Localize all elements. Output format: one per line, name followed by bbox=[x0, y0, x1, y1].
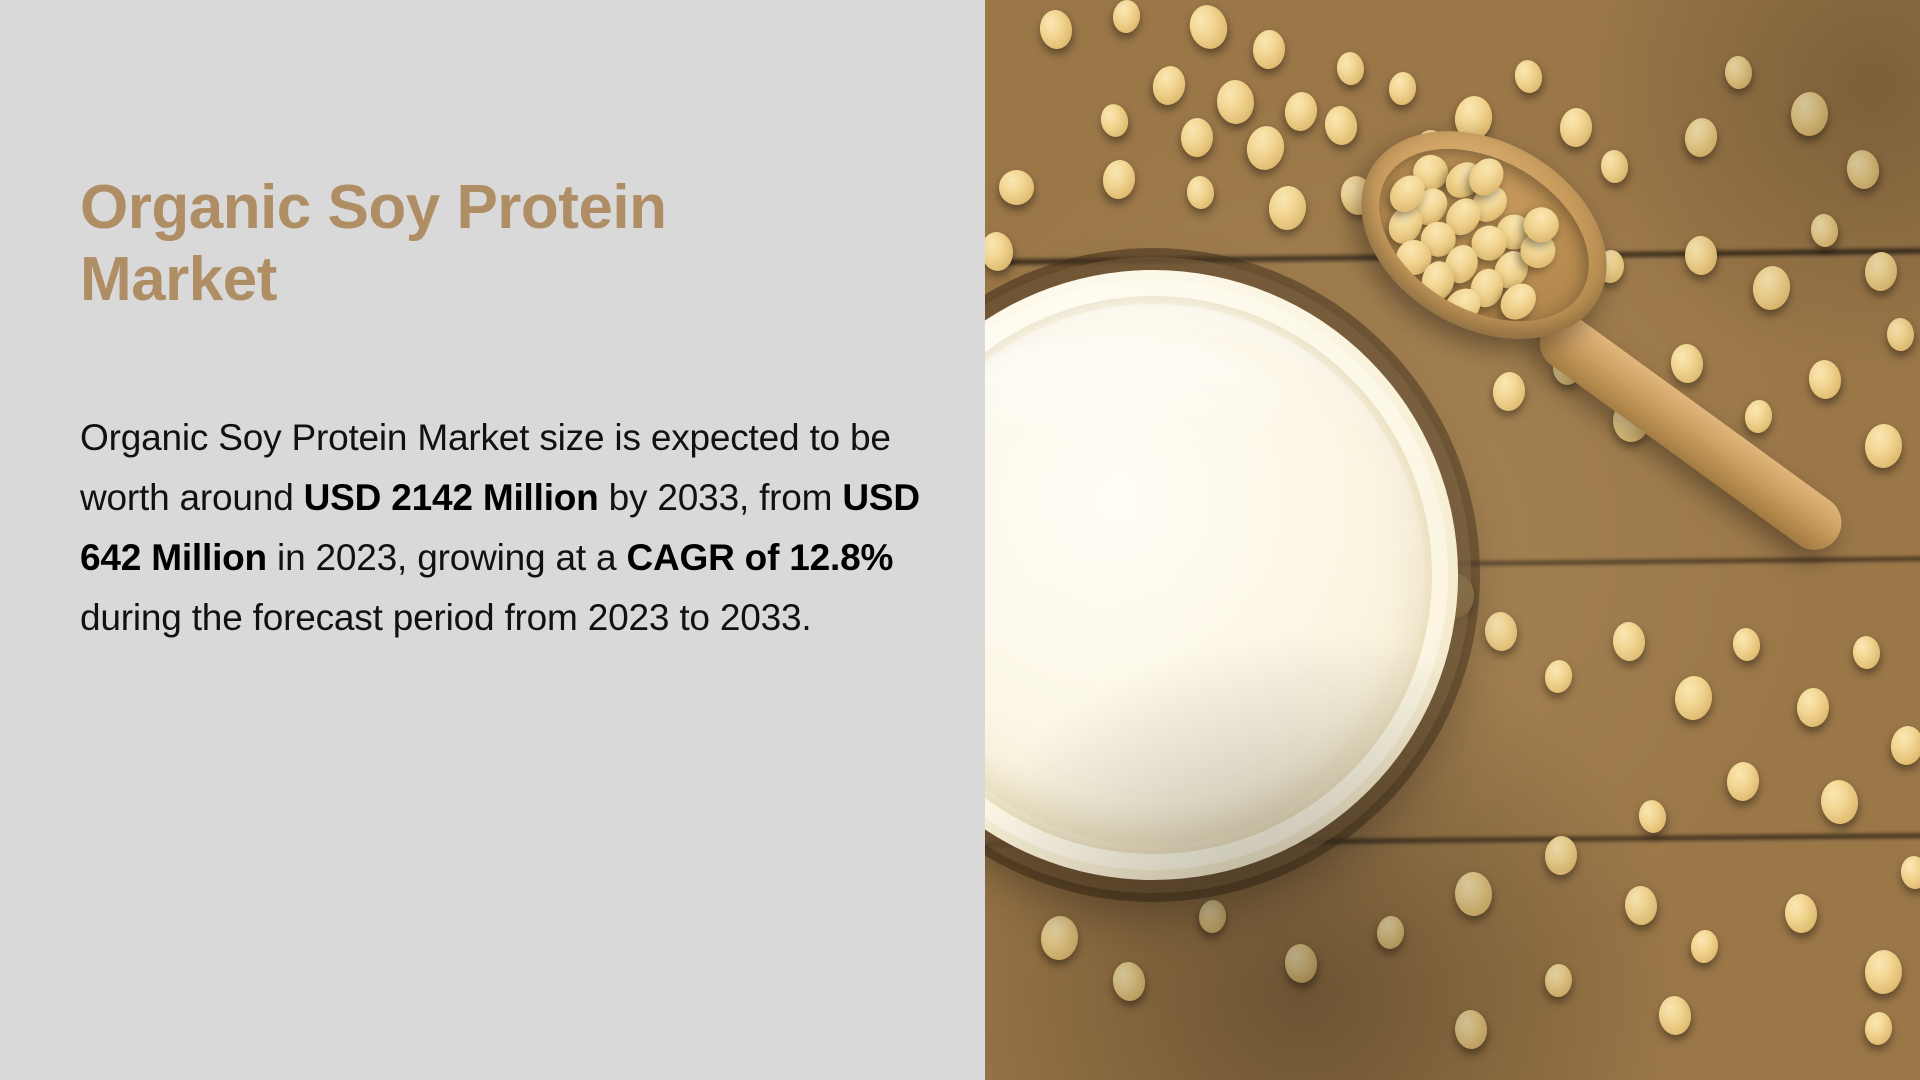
text-panel: Organic Soy Protein Market Organic Soy P… bbox=[0, 0, 985, 1080]
page-title: Organic Soy Protein Market bbox=[80, 0, 870, 316]
description-text: in 2023, growing at a bbox=[267, 537, 626, 578]
milk-highlight bbox=[985, 337, 1278, 456]
market-report-banner: Organic Soy Protein Market Organic Soy P… bbox=[0, 0, 1920, 1080]
metric-highlight: USD 2142 Million bbox=[304, 477, 599, 518]
soybean bbox=[999, 170, 1034, 205]
market-description: Organic Soy Protein Market size is expec… bbox=[80, 316, 920, 648]
metric-highlight: CAGR of 12.8% bbox=[626, 537, 893, 578]
product-photo bbox=[985, 0, 1920, 1080]
description-text: during the forecast period from 2023 to … bbox=[80, 597, 811, 638]
description-text: by 2033, from bbox=[599, 477, 843, 518]
